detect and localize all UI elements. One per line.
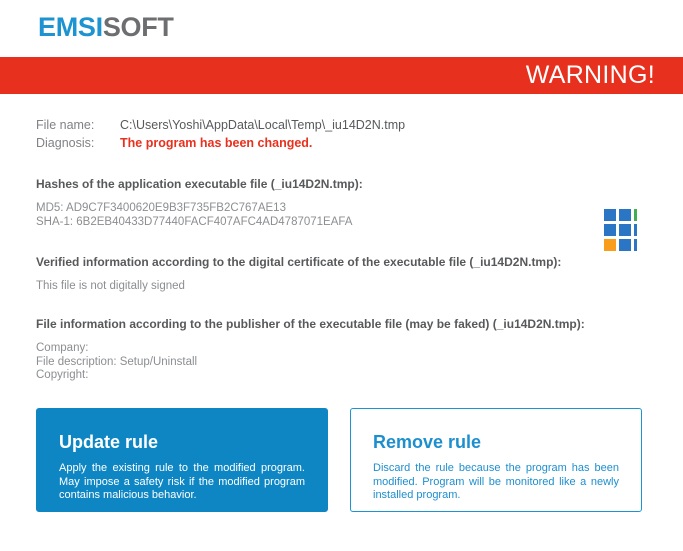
section-certificate-body: This file is not digitally signed (36, 280, 561, 294)
section-hashes: Hashes of the application executable fil… (36, 176, 363, 229)
section-certificate-title: Verified information according to the di… (36, 254, 561, 270)
grid-tile-1 (604, 209, 616, 221)
hash-md5: MD5: AD9C7F3400620E9B3F735FB2C767AE13 (36, 202, 363, 216)
remove-rule-button[interactable]: Remove rule Discard the rule because the… (350, 408, 642, 512)
diagnosis-label: Diagnosis: (36, 134, 120, 152)
main-content: File name: C:\Users\Yoshi\AppData\Local\… (0, 94, 683, 551)
grid-tile-4 (604, 224, 616, 236)
remove-rule-description: Discard the rule because the program has… (373, 462, 619, 503)
grid-tile-8 (619, 239, 631, 251)
section-publisher: File information according to the publis… (36, 316, 585, 383)
grid-tile-7 (604, 239, 616, 251)
diagnosis-value: The program has been changed. (120, 134, 312, 152)
update-rule-button[interactable]: Update rule Apply the existing rule to t… (36, 408, 328, 512)
logo-text-soft: SOFT (103, 12, 174, 42)
update-rule-title: Update rule (59, 431, 305, 453)
app-header: EMSISOFT (0, 0, 683, 57)
update-rule-description: Apply the existing rule to the modified … (59, 462, 305, 503)
section-hashes-title: Hashes of the application executable fil… (36, 176, 363, 192)
section-publisher-title: File information according to the publis… (36, 316, 585, 332)
hash-sha1: SHA-1: 6B2EB40433D77440FACF407AFC4AD4787… (36, 216, 363, 230)
file-metadata: File name: C:\Users\Yoshi\AppData\Local\… (36, 116, 405, 152)
section-certificate: Verified information according to the di… (36, 254, 561, 294)
warning-banner: WARNING! (0, 57, 683, 94)
file-name-row: File name: C:\Users\Yoshi\AppData\Local\… (36, 116, 405, 134)
publisher-file-description: File description: Setup/Uninstall (36, 356, 585, 370)
grid-tile-5 (619, 224, 631, 236)
file-name-value: C:\Users\Yoshi\AppData\Local\Temp\_iu14D… (120, 116, 405, 134)
section-hashes-body: MD5: AD9C7F3400620E9B3F735FB2C767AE13 SH… (36, 202, 363, 229)
remove-rule-title: Remove rule (373, 431, 619, 453)
emsisoft-logo: EMSISOFT (38, 12, 174, 42)
logo-text-emsi: EMSI (38, 12, 103, 42)
file-name-label: File name: (36, 116, 120, 134)
diagnosis-row: Diagnosis: The program has been changed. (36, 134, 405, 152)
publisher-copyright: Copyright: (36, 369, 585, 383)
certificate-status: This file is not digitally signed (36, 280, 561, 294)
content-scrollbar-track[interactable] (637, 176, 646, 416)
publisher-company: Company: (36, 342, 585, 356)
warning-label: WARNING! (526, 60, 655, 91)
grid-tile-2 (619, 209, 631, 221)
section-publisher-body: Company: File description: Setup/Uninsta… (36, 342, 585, 383)
